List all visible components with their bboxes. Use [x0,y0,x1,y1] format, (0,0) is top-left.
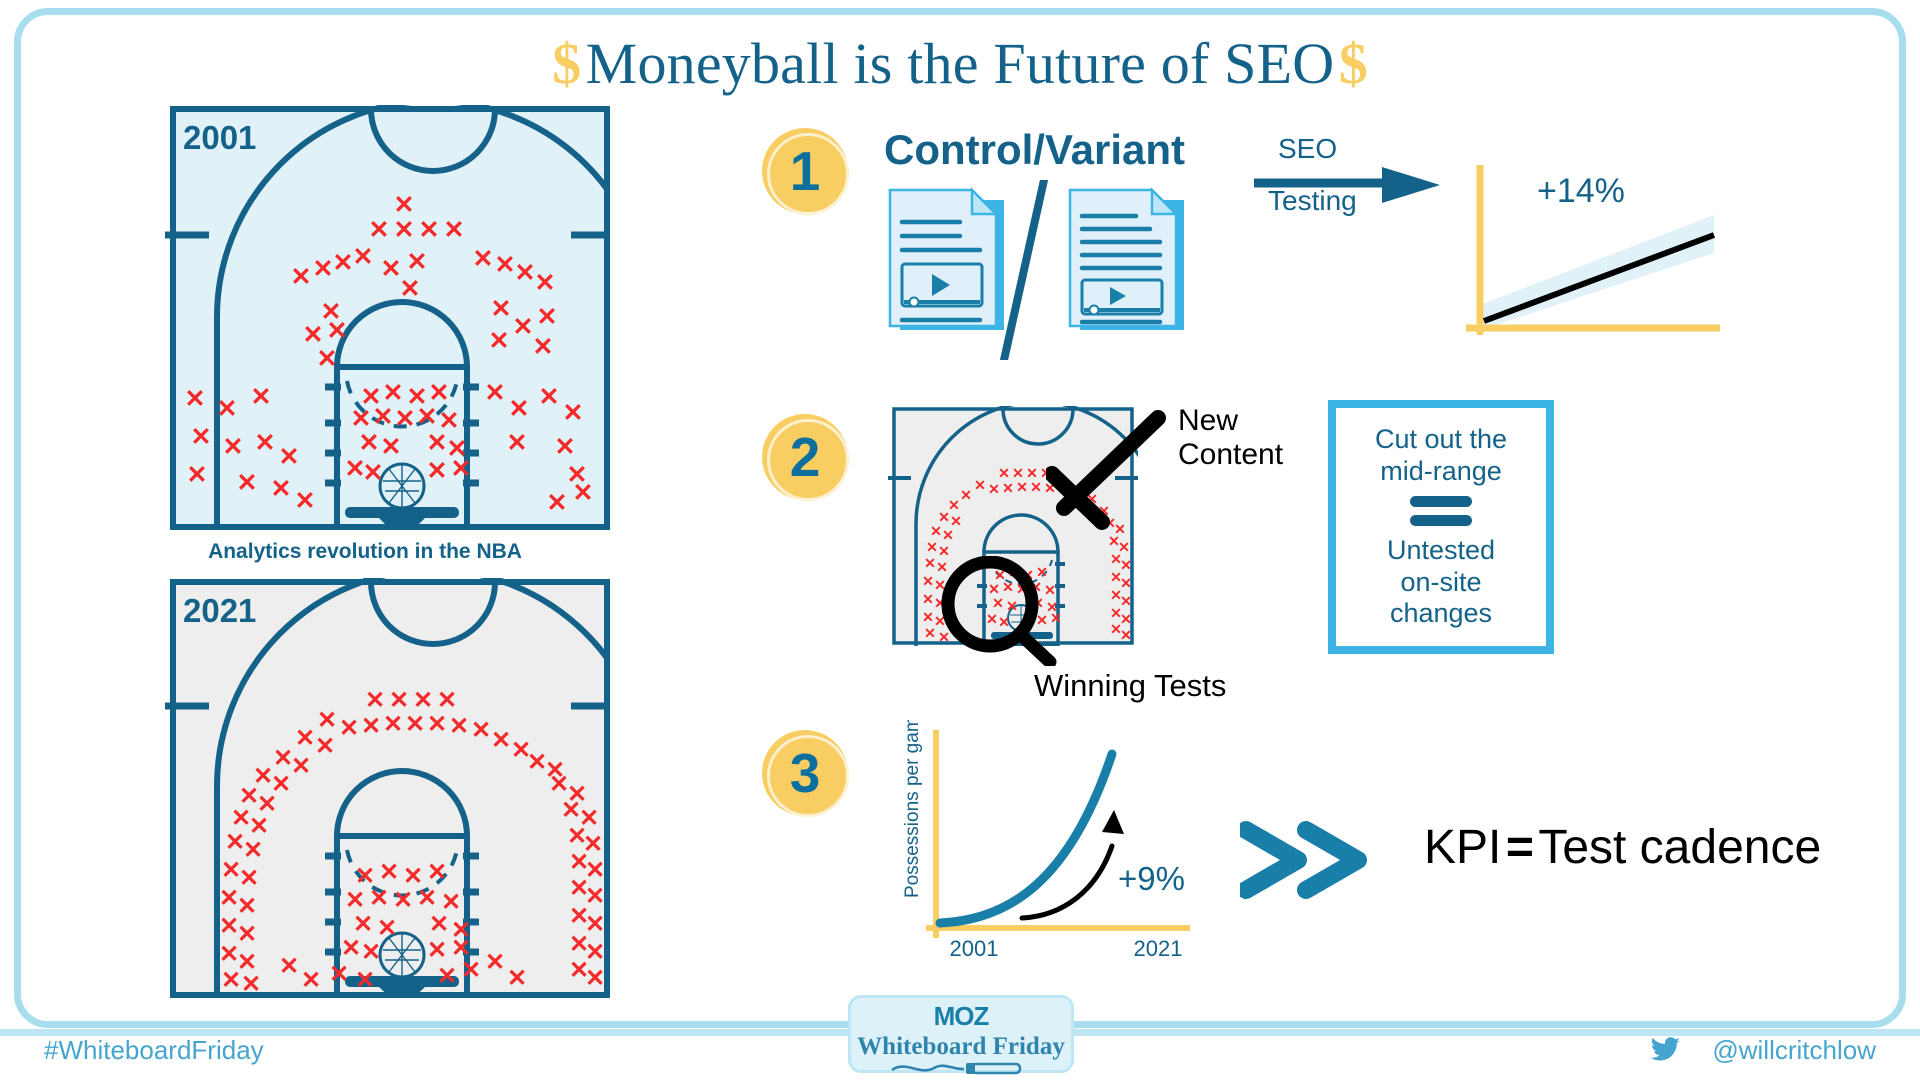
svg-text:✕: ✕ [437,963,457,990]
document-video-icon [1070,190,1184,330]
court-2001-svg: ✕ ✕✕✕✕ ✕✕✕✕ ✕✕✕✕ ✕✕✕ ✕✕✕✕ ✕✕✕✕✕ ✕✕✕✕ ✕✕✕… [165,105,610,530]
svg-text:✕: ✕ [249,813,269,840]
svg-text:✕: ✕ [449,713,469,740]
callout-bottom-line-1: Untested [1387,535,1495,567]
double-chevron-right-icon [1240,820,1390,900]
svg-text:✕: ✕ [537,303,558,331]
svg-text:✕: ✕ [485,379,506,407]
svg-text:✕: ✕ [217,395,238,423]
svg-text:✕: ✕ [444,216,465,244]
dollar-icon-left: $ [552,31,581,96]
svg-text:✕: ✕ [427,859,447,886]
svg-text:✕: ✕ [329,961,349,988]
svg-text:✕: ✕ [948,497,960,513]
svg-text:✕: ✕ [960,487,972,503]
svg-text:✕: ✕ [355,967,375,994]
svg-text:✕: ✕ [507,965,527,992]
equals-icon [1410,496,1472,526]
svg-text:✕: ✕ [461,957,481,984]
svg-text:✕: ✕ [327,317,348,345]
document-video-icon [890,190,1004,330]
svg-text:✕: ✕ [317,707,337,734]
svg-text:✕: ✕ [1120,611,1132,627]
callout-top-line-2: mid-range [1380,456,1502,488]
svg-text:✕: ✕ [301,967,321,994]
svg-text:✕: ✕ [495,251,516,279]
possessions-y-axis-label: Possessions per game [902,720,923,898]
svg-text:✕: ✕ [381,433,402,461]
svg-text:✕: ✕ [471,717,491,744]
svg-text:✕: ✕ [395,405,416,433]
svg-text:✕: ✕ [573,479,594,507]
svg-text:✕: ✕ [491,295,512,323]
trend-line [1484,235,1714,321]
svg-text:✕: ✕ [271,475,292,503]
svg-text:✕: ✕ [539,383,560,411]
svg-text:✕: ✕ [1030,479,1042,495]
svg-text:✕: ✕ [547,489,568,517]
twitter-bird-icon [1648,1036,1682,1066]
svg-text:✕: ✕ [427,711,447,738]
step-1-heading: Control/Variant [884,126,1185,174]
svg-text:✕: ✕ [317,345,338,373]
new-content-arrow-icon [1046,400,1186,530]
court-caption: Analytics revolution in the NBA [165,540,565,564]
svg-text:✕: ✕ [339,715,359,742]
court-2001-year: 2001 [183,119,256,157]
svg-text:✕: ✕ [1120,575,1132,591]
svg-text:✕: ✕ [394,191,415,219]
kpi-equals: = [1506,821,1534,874]
svg-text:✕: ✕ [998,465,1010,481]
svg-text:✕: ✕ [393,887,413,914]
svg-text:✕: ✕ [924,555,936,571]
svg-text:✕: ✕ [1016,479,1028,495]
svg-text:✕: ✕ [221,967,241,994]
svg-text:✕: ✕ [407,248,428,276]
svg-text:✕: ✕ [1002,480,1014,496]
svg-text:✕: ✕ [341,935,361,962]
svg-text:✕: ✕ [507,429,528,457]
svg-text:✕: ✕ [922,591,934,607]
svg-text:✕: ✕ [417,885,437,912]
svg-text:✕: ✕ [922,573,934,589]
svg-text:✕: ✕ [473,245,494,273]
callout-top-line-1: Cut out the [1375,424,1507,456]
possessions-curve [940,754,1112,923]
svg-text:✕: ✕ [437,687,457,714]
svg-text:✕: ✕ [237,893,257,920]
svg-text:✕: ✕ [291,263,312,291]
svg-text:✕: ✕ [291,753,311,780]
svg-text:✕: ✕ [345,887,365,914]
svg-text:✕: ✕ [359,429,380,457]
mid-range-callout: Cut out the mid-range Untested on-site c… [1328,400,1554,654]
svg-text:✕: ✕ [563,399,584,427]
svg-text:✕: ✕ [535,269,556,297]
svg-text:✕: ✕ [394,216,415,244]
svg-text:✕: ✕ [413,687,433,714]
callout-bottom-line-3: changes [1390,598,1492,630]
svg-text:✕: ✕ [237,469,258,497]
svg-text:✕: ✕ [405,711,425,738]
svg-text:✕: ✕ [333,249,354,277]
svg-text:✕: ✕ [400,275,421,303]
new-content-label: New Content [1178,404,1283,471]
svg-text:✕: ✕ [313,255,334,283]
svg-text:✕: ✕ [417,403,438,431]
svg-text:✕: ✕ [383,711,403,738]
step-3-number: 3 [790,746,821,801]
svg-text:✕: ✕ [926,539,938,555]
svg-text:✕: ✕ [237,921,257,948]
magnifier-icon [938,556,1068,666]
new-content-line-1: New [1178,404,1238,437]
moz-logo-icon: MOZ [907,1002,1015,1030]
page-title-text: Moneyball is the Future of SEO [586,31,1335,96]
svg-text:✕: ✕ [279,443,300,471]
svg-text:✕: ✕ [1120,593,1132,609]
svg-text:✕: ✕ [427,429,448,457]
svg-text:✕: ✕ [489,327,510,355]
svg-text:✕: ✕ [363,459,384,487]
x-tick-2001: 2001 [950,936,999,961]
svg-text:✕: ✕ [930,523,942,539]
winning-tests-label: Winning Tests [1034,669,1226,704]
svg-text:✕: ✕ [353,243,374,271]
svg-text:✕: ✕ [369,885,389,912]
svg-text:✕: ✕ [279,953,299,980]
svg-text:✕: ✕ [187,461,208,489]
svg-text:✕: ✕ [988,481,1000,497]
seo-arrow-label-top: SEO [1278,133,1337,165]
svg-text:✕: ✕ [295,725,315,752]
svg-text:✕: ✕ [509,395,530,423]
svg-text:✕: ✕ [1120,557,1132,573]
x-tick-2021: 2021 [1134,936,1183,961]
step-2-badge: 2 [762,414,848,500]
svg-text:✕: ✕ [239,865,259,892]
new-content-line-2: Content [1178,438,1283,471]
svg-text:✕: ✕ [373,403,394,431]
step-1-badge: 1 [762,128,848,214]
growth-arrow-icon [1102,810,1124,834]
svg-text:✕: ✕ [1120,627,1132,643]
step-2-number: 2 [790,430,821,485]
step-3-badge: 3 [762,730,848,816]
svg-text:✕: ✕ [924,625,936,641]
svg-text:✕: ✕ [533,333,554,361]
possessions-chart: Possessions per game 2001 2021 [890,720,1200,970]
svg-text:✕: ✕ [555,433,576,461]
court-2001: ✕ ✕✕✕✕ ✕✕✕✕ ✕✕✕✕ ✕✕✕ ✕✕✕✕ ✕✕✕✕✕ ✕✕✕✕ ✕✕✕… [165,105,610,530]
seo-uplift-value: +14% [1537,172,1625,211]
svg-text:✕: ✕ [491,727,511,754]
page-title: $ Moneyball is the Future of SEO $ [0,30,1920,97]
svg-text:✕: ✕ [353,911,373,938]
callout-bottom-line-2: on-site [1400,567,1481,599]
svg-text:✕: ✕ [369,216,390,244]
svg-text:✕: ✕ [255,429,276,457]
hashtag-label: #WhiteboardFriday [44,1035,264,1066]
court-2021-svg: ✕✕✕✕ ✕✕✕✕ ✕✕✕✕ ✕✕✕✕ ✕✕✕✕ ✕✕✕✕ ✕✕✕✕ ✕✕✕✕ … [165,578,610,998]
svg-text:✕: ✕ [513,313,534,341]
svg-text:✕: ✕ [185,385,206,413]
moz-badge-subtitle: Whiteboard Friday [851,1033,1071,1061]
svg-text:✕: ✕ [485,949,505,976]
svg-text:✕: ✕ [942,527,954,543]
svg-text:✕: ✕ [243,837,263,864]
svg-text:✕: ✕ [379,859,399,886]
svg-text:✕: ✕ [365,687,385,714]
kpi-statement: KPI = Test cadence [1424,820,1821,875]
dollar-icon-right: $ [1339,31,1368,96]
svg-text:✕: ✕ [251,383,272,411]
svg-text:✕: ✕ [389,687,409,714]
svg-text:✕: ✕ [585,965,605,992]
twitter-handle-label: @willcritchlow [1712,1035,1876,1066]
svg-text:✕: ✕ [191,423,212,451]
kpi-label: KPI [1424,821,1501,874]
svg-text:✕: ✕ [361,939,381,966]
svg-text:✕: ✕ [361,713,381,740]
confidence-band [1480,215,1714,330]
svg-text:✕: ✕ [427,457,448,485]
svg-text:✕: ✕ [381,255,402,283]
kpi-value: Test cadence [1538,821,1821,874]
svg-text:✕: ✕ [377,915,397,942]
svg-text:✕: ✕ [241,971,261,998]
moz-whiteboard-friday-badge: MOZ Whiteboard Friday [848,995,1074,1073]
seo-testing-arrow-icon [1252,165,1442,209]
svg-text:✕: ✕ [419,216,440,244]
svg-text:✕: ✕ [427,937,447,964]
svg-text:✕: ✕ [429,911,449,938]
svg-text:✕: ✕ [315,733,335,760]
court-2021: ✕✕✕✕ ✕✕✕✕ ✕✕✕✕ ✕✕✕✕ ✕✕✕✕ ✕✕✕✕ ✕✕✕✕ ✕✕✕✕ … [165,578,610,998]
step-1-number: 1 [790,144,821,199]
svg-text:✕: ✕ [295,487,316,515]
court-2021-year: 2021 [183,592,256,630]
svg-text:✕: ✕ [515,259,536,287]
svg-text:MOZ: MOZ [934,1002,990,1030]
svg-text:✕: ✕ [223,433,244,461]
svg-text:✕: ✕ [451,455,472,483]
possessions-uplift-value: +9% [1118,860,1185,898]
svg-text:✕: ✕ [922,609,934,625]
svg-text:✕: ✕ [974,477,986,493]
marker-pen-icon [886,1060,1036,1076]
control-variant-docs [884,180,1214,360]
